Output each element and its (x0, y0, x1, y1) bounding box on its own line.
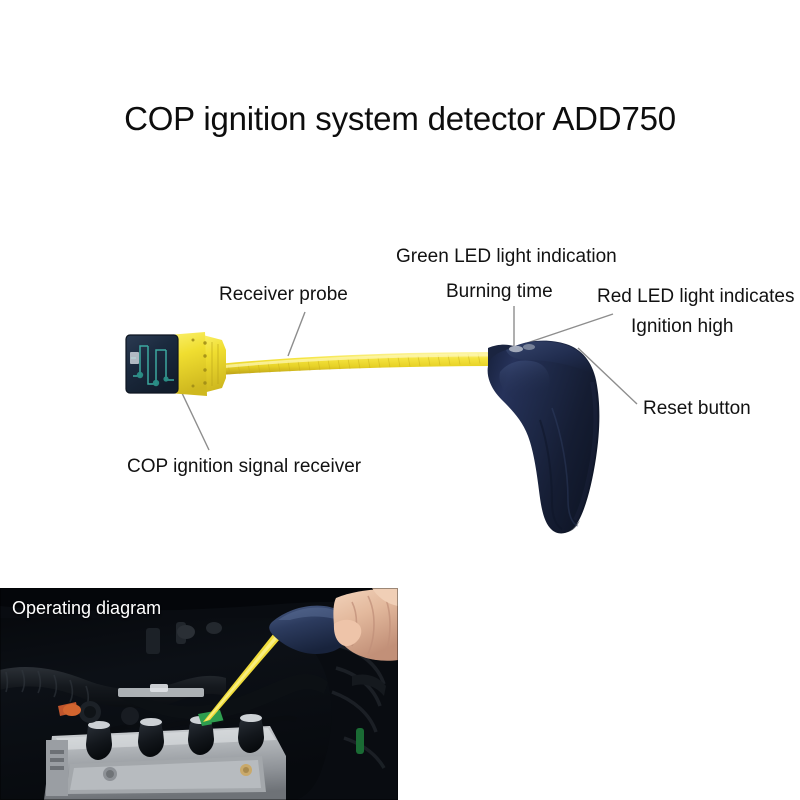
tool-handle-grip (488, 341, 600, 534)
probe-shaft (218, 352, 492, 375)
leader-line-receiver-probe (288, 312, 305, 356)
operating-diagram-photo: Operating diagram (0, 588, 398, 800)
callout-label-ignition-high: Ignition high (631, 316, 733, 337)
engine-bay-scene (0, 588, 398, 800)
callout-label-green-led: Green LED light indication (396, 246, 617, 267)
callout-label-burning-time: Burning time (446, 281, 553, 302)
callout-label-signal-receiver: COP ignition signal receiver (127, 456, 361, 477)
cop-signal-sensor-pad (126, 335, 178, 393)
callout-label-reset-button: Reset button (643, 398, 751, 419)
operating-diagram-caption: Operating diagram (12, 598, 161, 619)
callout-label-red-led: Red LED light indicates (597, 286, 795, 307)
callout-label-receiver-probe: Receiver probe (219, 284, 348, 305)
leader-line-red-led (521, 314, 613, 345)
